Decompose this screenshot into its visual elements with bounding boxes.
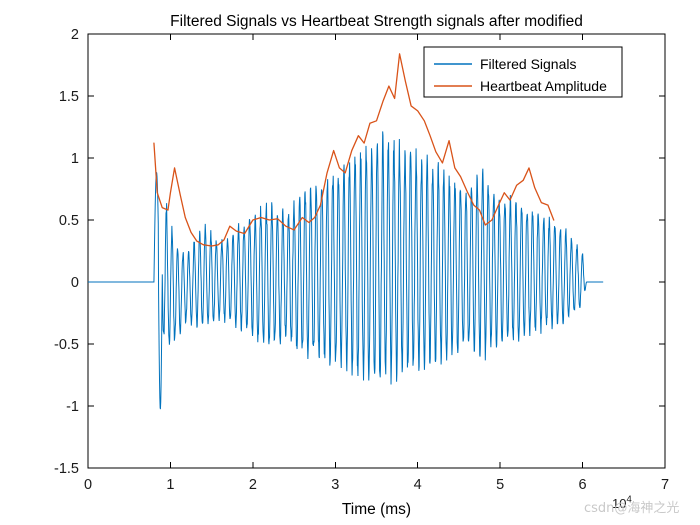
y-tick-label: 0 xyxy=(71,275,79,291)
x-tick-label: 1 xyxy=(166,477,174,493)
plot-box xyxy=(88,34,665,468)
y-tick-label: 2 xyxy=(71,27,79,43)
y-tick-label: -1.5 xyxy=(54,461,79,477)
x-tick-label: 3 xyxy=(331,477,339,493)
x-axis-label: Time (ms) xyxy=(342,501,411,518)
x-tick-label: 0 xyxy=(84,477,92,493)
y-tick-label: 0.5 xyxy=(59,213,79,229)
plot-canvas: Filtered Signals vs Heartbeat Strength s… xyxy=(0,0,700,525)
x-tick-label: 6 xyxy=(579,477,587,493)
watermark-text: csdn@海神之光 xyxy=(584,497,679,516)
chart-title: Filtered Signals vs Heartbeat Strength s… xyxy=(170,13,583,30)
x-tick-label: 4 xyxy=(414,477,422,493)
legend-label-1: Filtered Signals xyxy=(480,56,577,72)
matlab-figure: Filtered Signals vs Heartbeat Strength s… xyxy=(0,0,700,525)
y-tick-label: -1 xyxy=(66,399,79,415)
x-tick-label: 7 xyxy=(661,477,669,493)
x-tick-label: 2 xyxy=(249,477,257,493)
x-tick-label: 5 xyxy=(496,477,504,493)
legend-label-2: Heartbeat Amplitude xyxy=(480,78,607,94)
y-tick-label: 1 xyxy=(71,151,79,167)
y-tick-label: 1.5 xyxy=(59,89,79,105)
y-tick-label: -0.5 xyxy=(54,337,79,353)
